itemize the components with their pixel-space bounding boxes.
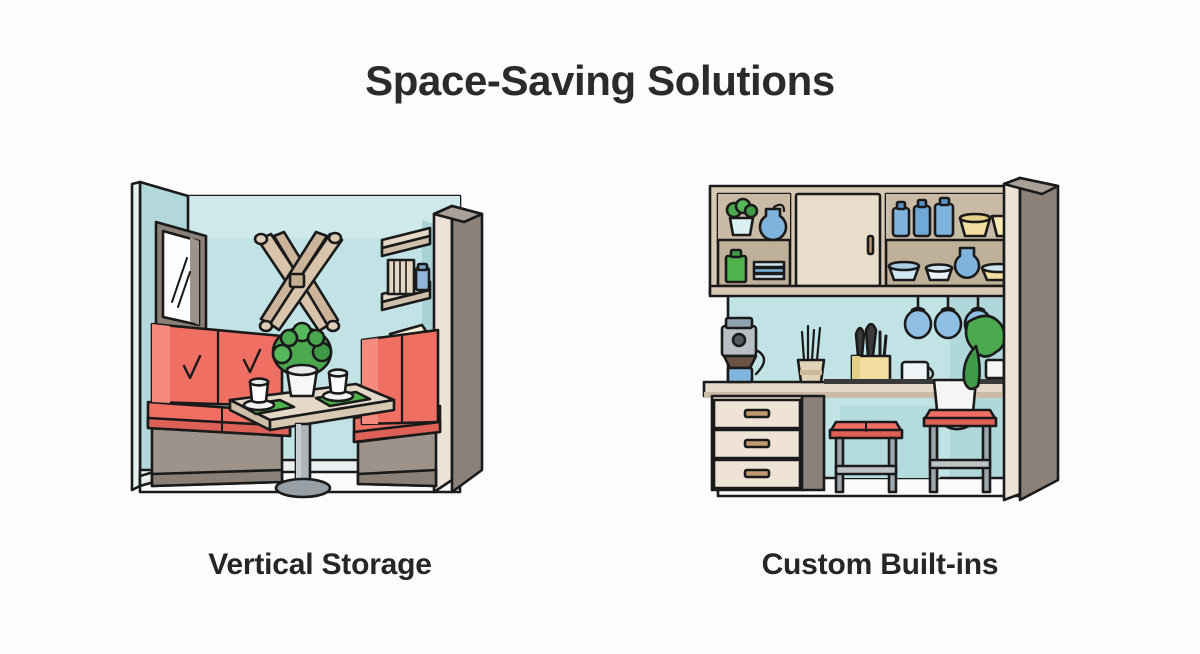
panel-vertical-storage: Vertical Storage: [130, 174, 510, 582]
upper-cabinet-unit: [710, 186, 1020, 296]
storage-panel-right: [434, 206, 482, 492]
caption-custom-built-ins: Custom Built-ins: [762, 548, 999, 582]
shelf-plates: [754, 262, 784, 279]
built-in-side-panel: [1004, 178, 1058, 500]
wall-mirror: [156, 222, 206, 334]
illustration-page: Space-Saving Solutions: [0, 0, 1200, 654]
shelf-books: [388, 260, 429, 294]
illustration-custom-built-ins: [690, 174, 1070, 504]
panel-row: Vertical Storage: [0, 174, 1200, 582]
shelf-canister: [726, 250, 746, 282]
drawer-2-handle[interactable]: [745, 440, 769, 447]
drawer-1-handle[interactable]: [745, 410, 769, 417]
panel-custom-built-ins: Custom Built-ins: [690, 174, 1070, 582]
vertical-storage-svg: [130, 174, 510, 504]
caption-vertical-storage: Vertical Storage: [208, 548, 432, 582]
custom-built-ins-svg: [690, 174, 1070, 504]
illustration-vertical-storage: [130, 174, 510, 504]
page-title: Space-Saving Solutions: [365, 58, 835, 104]
shelf-blue-canisters: [893, 198, 953, 236]
base-cabinet: [712, 396, 824, 490]
cabinet-door-handle[interactable]: [868, 236, 873, 254]
left-wall-trim: [132, 182, 140, 490]
drawer-3-handle[interactable]: [745, 470, 769, 477]
